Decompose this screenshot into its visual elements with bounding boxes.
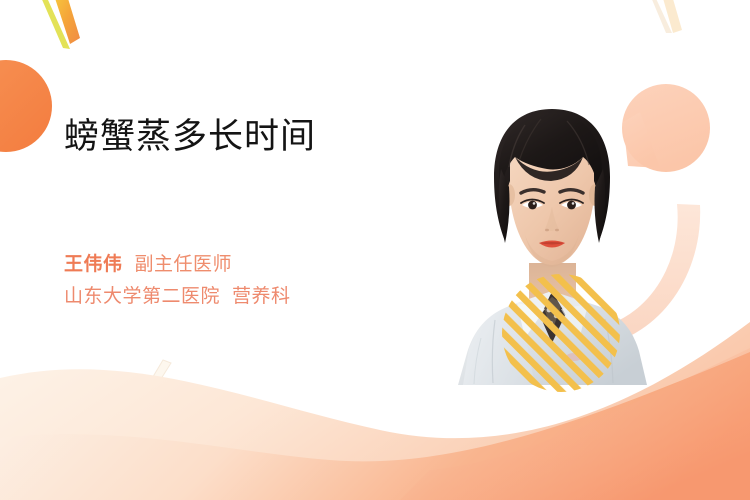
text-block: 螃蟹蒸多长时间 王伟伟副主任医师 山东大学第二医院营养科: [64, 112, 464, 312]
doctor-video-thumbnail-card: 螃蟹蒸多长时间 王伟伟副主任医师 山东大学第二医院营养科: [0, 0, 750, 500]
doctor-byline: 王伟伟副主任医师 山东大学第二医院营养科: [64, 249, 464, 312]
doctor-name-line: 王伟伟副主任医师: [64, 249, 464, 281]
top-left-stripe-pair: [37, 0, 80, 49]
orange-circle-decoration: [0, 60, 52, 152]
doctor-name: 王伟伟: [64, 254, 123, 275]
doctor-affiliation-line: 山东大学第二医院营养科: [64, 281, 464, 312]
top-right-stripe-pair: [648, 0, 682, 33]
page-title: 螃蟹蒸多长时间: [64, 112, 464, 162]
doctor-department: 营养科: [232, 286, 291, 307]
faint-outline-stroke: [142, 360, 171, 398]
doctor-portrait: [455, 95, 650, 385]
doctor-role: 副主任医师: [135, 254, 233, 275]
doctor-hospital: 山东大学第二医院: [64, 286, 220, 307]
